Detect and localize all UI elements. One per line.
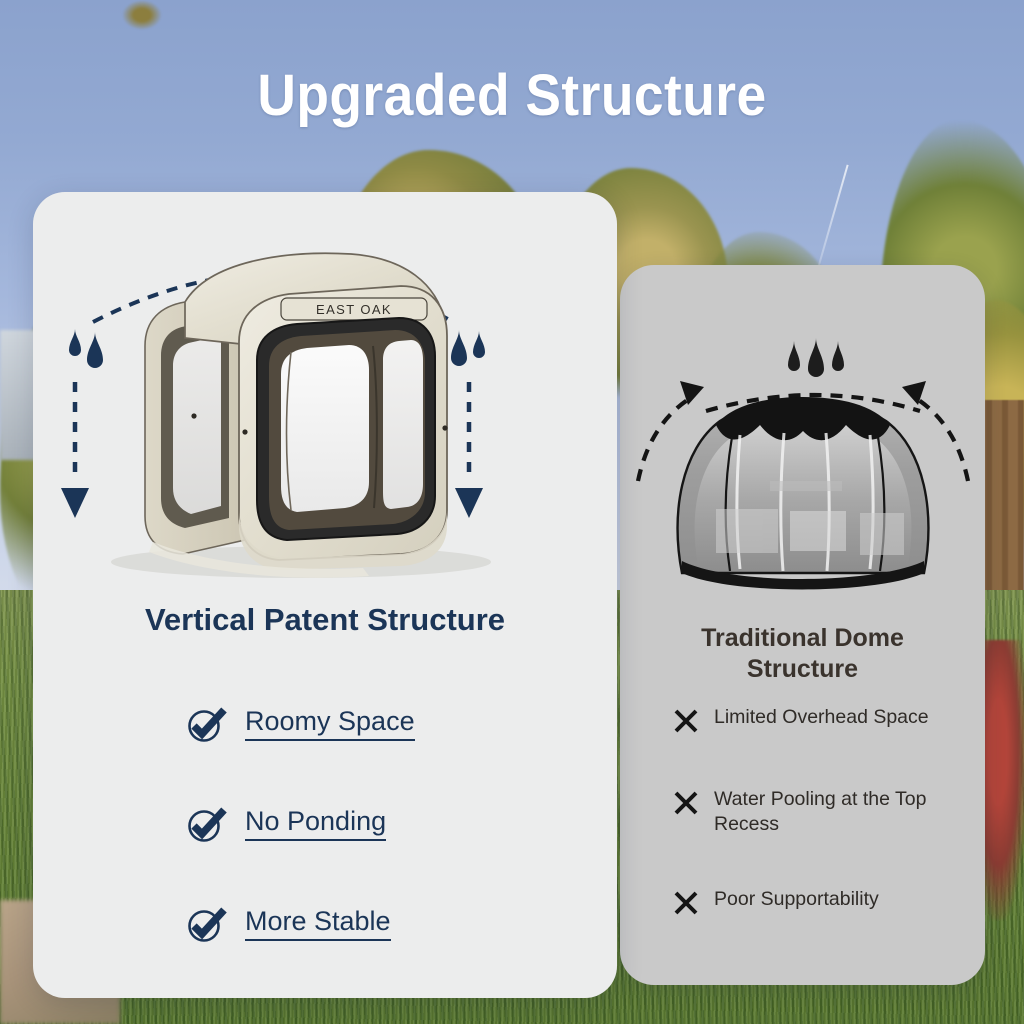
water-droplets-icon [451, 330, 485, 366]
list-item: More Stable [33, 874, 617, 974]
page-title: Upgraded Structure [41, 62, 983, 129]
brand-logo-text: EAST OAK [316, 302, 392, 317]
list-item: Roomy Space [33, 674, 617, 774]
check-circle-icon [185, 803, 227, 845]
check-circle-icon [185, 903, 227, 945]
window-pane [383, 340, 423, 509]
list-item-label: No Ponding [245, 807, 386, 842]
list-item-label: Poor Supportability [714, 887, 879, 912]
benefits-list: Roomy Space No Ponding [33, 674, 617, 974]
heading-line-1: Traditional Dome [701, 624, 904, 652]
tent-illustration: EAST OAK [33, 210, 617, 610]
down-arrow-icon [61, 382, 89, 518]
x-mark-icon [672, 889, 700, 917]
dome-illustration [620, 273, 985, 623]
right-card-heading: Traditional Dome Structure [620, 623, 985, 684]
drawbacks-list: Limited Overhead Space Water Pooling at … [620, 705, 985, 969]
list-item-label: Water Pooling at the Top Recess [714, 787, 966, 837]
water-droplets-icon [69, 329, 103, 368]
heading-line-2: Structure [747, 655, 858, 683]
left-card-heading: Vertical Patent Structure [33, 602, 617, 638]
list-item: Poor Supportability [620, 887, 985, 969]
x-mark-icon [672, 707, 700, 735]
traditional-dome-card: Traditional Dome Structure Limited Overh… [620, 265, 985, 985]
vertical-patent-card: EAST OAK [33, 192, 617, 998]
infographic-canvas: Upgraded Structure [0, 0, 1024, 1024]
x-mark-icon [672, 789, 700, 817]
check-circle-icon [185, 703, 227, 745]
water-droplets-icon [788, 338, 844, 377]
leaf-branch [122, 0, 162, 30]
list-item-label: More Stable [245, 907, 391, 942]
list-item: Water Pooling at the Top Recess [620, 787, 985, 887]
list-item: No Ponding [33, 774, 617, 874]
window-pane [281, 345, 369, 512]
list-item-label: Roomy Space [245, 707, 415, 742]
list-item-label: Limited Overhead Space [714, 705, 929, 730]
down-arrow-icon [455, 382, 483, 518]
tent-svg: EAST OAK [33, 210, 617, 610]
list-item: Limited Overhead Space [620, 705, 985, 787]
